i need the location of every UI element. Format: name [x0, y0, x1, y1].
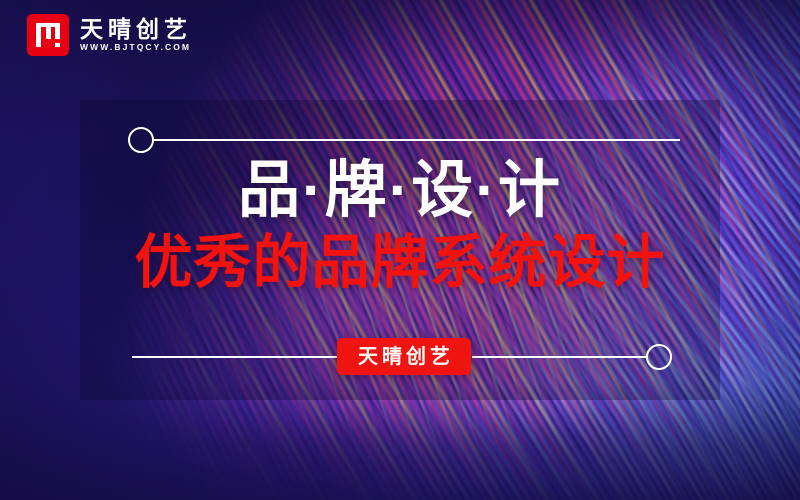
logo-mark-notch [46, 39, 60, 43]
decor-ring-bottom-right [646, 344, 672, 370]
brand-design-banner: 天晴创艺 WWW.BJTQCY.COM 品·牌·设·计 优秀的品牌系统设计 天晴… [0, 0, 800, 500]
page-title: 品·牌·设·计 [0, 160, 800, 222]
brand-badge: 天晴创艺 [337, 338, 471, 375]
headline-block: 品·牌·设·计 优秀的品牌系统设计 [0, 160, 800, 292]
brand-logo[interactable]: 天晴创艺 WWW.BJTQCY.COM [27, 14, 192, 56]
logo-brand-name: 天晴创艺 [80, 18, 192, 41]
logo-website: WWW.BJTQCY.COM [80, 43, 192, 52]
decor-ring-top-left [128, 127, 154, 153]
page-subtitle: 优秀的品牌系统设计 [0, 234, 800, 292]
decor-rule-bottom-left [132, 356, 337, 358]
logo-mark-stroke-middle [46, 23, 51, 39]
logo-text-block: 天晴创艺 WWW.BJTQCY.COM [80, 18, 192, 52]
logo-mark-stroke-left [36, 23, 41, 47]
logo-mark-icon [27, 14, 69, 56]
brand-badge-label: 天晴创艺 [354, 347, 454, 367]
decor-rule-top [152, 139, 680, 141]
decor-rule-bottom-right [472, 356, 648, 358]
logo-mark-stroke-right [55, 23, 60, 47]
